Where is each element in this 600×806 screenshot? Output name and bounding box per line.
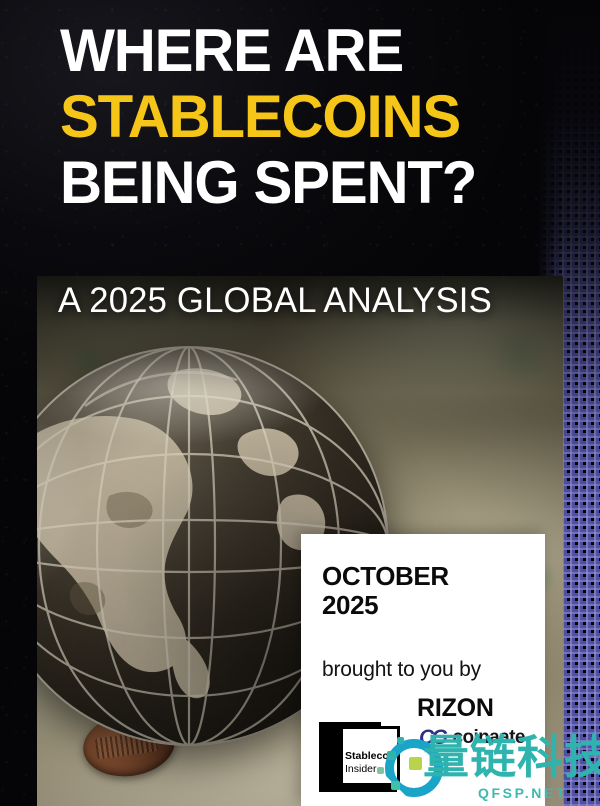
publication-date: OCTOBER 2025 — [322, 562, 449, 620]
watermark-pixel-dot — [409, 757, 422, 770]
subtitle: A 2025 GLOBAL ANALYSIS — [58, 281, 492, 321]
watermark-pixel-dot — [397, 737, 404, 744]
headline-line-2-accent: STABLECOINS — [60, 84, 564, 150]
publication-year: 2025 — [322, 591, 449, 620]
headline-line-3: BEING SPENT? — [60, 150, 564, 216]
publication-month: OCTOBER — [322, 562, 449, 591]
brought-to-you-by-label: brought to you by — [322, 658, 481, 682]
watermark-pixel-dot — [387, 751, 396, 760]
watermark-pixel-dot — [377, 767, 384, 774]
watermark-pixel-dot — [391, 781, 400, 790]
watermark-domain: QFSP.NET — [478, 785, 567, 801]
site-watermark: 量链科技 QFSP.NET — [385, 731, 600, 806]
watermark-glyphs: 量链科技 — [423, 731, 600, 783]
infographic-poster: WHERE ARE STABLECOINS BEING SPENT? 51555 — [0, 0, 600, 806]
headline-line-1: WHERE ARE — [60, 18, 564, 84]
headline-block: WHERE ARE STABLECOINS BEING SPENT? — [60, 18, 580, 216]
partner-name-rizon: RIZON — [417, 694, 494, 723]
